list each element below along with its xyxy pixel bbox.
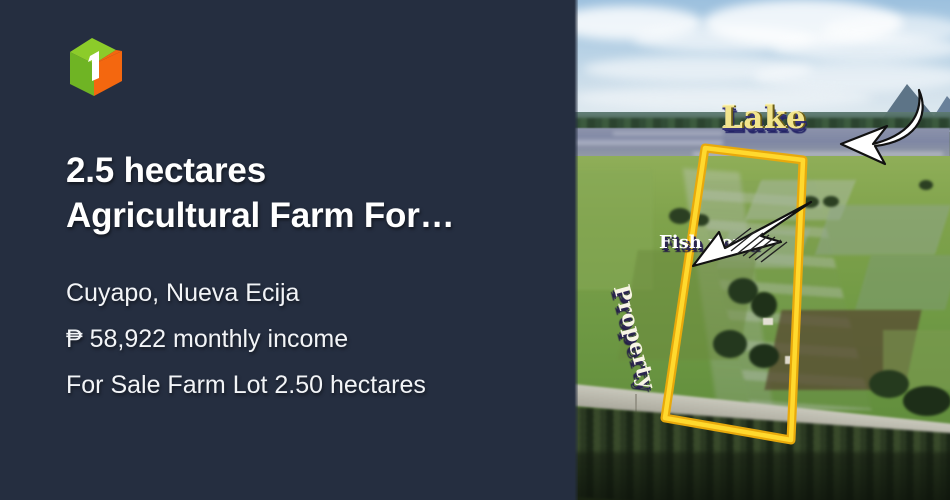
house-one-logo-icon[interactable] — [66, 34, 126, 98]
lake-label: Lake — [721, 100, 806, 136]
detail-lot-summary: For Sale Farm Lot 2.50 hectares — [66, 362, 546, 408]
listing-info-panel: 2.5 hectares Agricultural Farm For… Cuya… — [0, 0, 570, 500]
page-title: 2.5 hectares Agricultural Farm For… — [66, 148, 536, 238]
listing-photo[interactable]: Lake Fish pond Property — [570, 0, 950, 500]
listing-details: Cuyapo, Nueva Ecija ₱ 58,922 monthly inc… — [66, 270, 546, 408]
title-line-2: Agricultural Farm For… — [66, 193, 536, 238]
arrow-to-fish-pond — [665, 196, 815, 291]
arrow-to-lake — [801, 84, 931, 179]
detail-monthly-income: ₱ 58,922 monthly income — [66, 316, 546, 362]
photo-left-edge — [570, 0, 578, 500]
aerial-farm-photo: Lake Fish pond Property — [573, 0, 950, 500]
title-line-1: 2.5 hectares — [66, 148, 536, 193]
property-listing-card[interactable]: 2.5 hectares Agricultural Farm For… Cuya… — [0, 0, 950, 500]
detail-location: Cuyapo, Nueva Ecija — [66, 270, 546, 316]
